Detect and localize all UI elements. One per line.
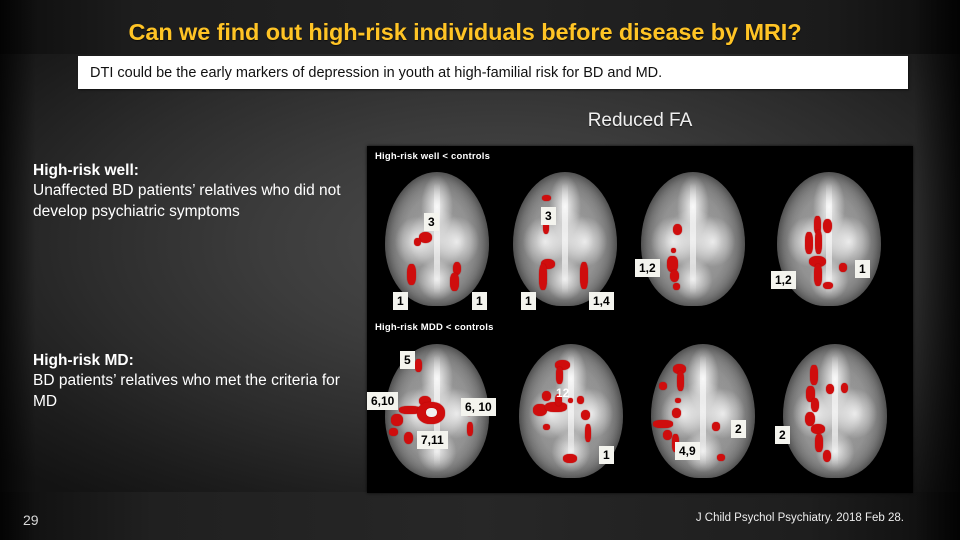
definition-heading: High-risk well: — [33, 162, 358, 180]
cluster-blob — [659, 382, 667, 390]
cluster-blob — [415, 359, 422, 372]
brain-outline-icon — [385, 172, 489, 306]
brain-slice-3: 1,2 — [629, 164, 757, 314]
citation-text: J Child Psychol Psychiatry. 2018 Feb 28. — [696, 512, 904, 524]
brain-outline-icon — [783, 344, 887, 478]
right-vignette — [914, 0, 960, 540]
cluster-blob — [663, 430, 672, 440]
figure-row-high-risk-well: 3 1 1 3 1 1,4 — [367, 164, 913, 314]
brain-outline-icon — [651, 344, 755, 478]
definition-high-risk-md: High-risk MD: BD patients’ relatives who… — [33, 352, 358, 412]
brain-outline-icon — [641, 172, 745, 306]
cluster-tag: 2 — [731, 420, 746, 438]
cluster-blob — [407, 264, 416, 285]
cluster-tag: 1,2 — [635, 259, 660, 277]
cluster-blob — [811, 398, 819, 412]
cluster-blob — [389, 428, 398, 436]
brain-slice-8: 2 — [771, 336, 899, 486]
cluster-blob — [673, 224, 682, 235]
brain-slice-5: 5 6,10 6, 10 7,11 — [373, 336, 501, 486]
cluster-blob — [814, 264, 822, 286]
cluster-blob — [717, 454, 725, 461]
cluster-blob — [543, 424, 550, 430]
cluster-tag: 1 — [393, 292, 408, 310]
cluster-blob — [580, 262, 588, 289]
cluster-blob — [670, 270, 679, 282]
cluster-tag: 1 — [521, 292, 536, 310]
cluster-blob — [542, 195, 551, 201]
cluster-blob — [673, 283, 680, 290]
brain-slice-4: 1,2 1 — [765, 164, 893, 314]
brain-outline-icon — [513, 172, 617, 306]
cluster-blob — [450, 273, 459, 291]
cluster-blob — [811, 424, 825, 434]
slide-canvas: Can we find out high-risk individuals be… — [0, 0, 960, 540]
cluster-blob — [563, 454, 577, 463]
cluster-blob-core — [426, 408, 437, 417]
cluster-tag: 5 — [400, 351, 415, 369]
brain-slice-7: 2 4,9 — [639, 336, 767, 486]
cluster-blob — [556, 367, 563, 384]
left-vignette — [0, 0, 36, 540]
definition-heading: High-risk MD: — [33, 352, 358, 370]
cluster-blob — [404, 432, 413, 444]
cluster-tag: 2 — [775, 426, 790, 444]
cluster-tag: 1 — [855, 260, 870, 278]
cluster-blob — [577, 396, 584, 404]
figure-row-label-bottom: High-risk MDD < controls — [375, 322, 494, 333]
definition-body: Unaffected BD patients’ relatives who di… — [33, 181, 358, 222]
cluster-blob — [815, 434, 823, 452]
figure-row-high-risk-mdd: 5 6,10 6, 10 7,11 12 1 — [367, 336, 913, 486]
cluster-blob — [675, 398, 681, 403]
cluster-tag: 1,2 — [771, 271, 796, 289]
cluster-blob — [542, 391, 551, 401]
figure-panel: High-risk well < controls High-risk MDD … — [367, 146, 913, 493]
definition-high-risk-well: High-risk well: Unaffected BD patients’ … — [33, 162, 358, 222]
cluster-tag: 1 — [472, 292, 487, 310]
cluster-blob — [712, 422, 720, 431]
cluster-blob — [823, 219, 832, 233]
cluster-blob — [467, 422, 473, 436]
brain-slice-2: 3 1 1,4 — [501, 164, 629, 314]
cluster-blob — [826, 384, 834, 394]
definition-body: BD patients’ relatives who met the crite… — [33, 371, 358, 412]
cluster-tag: 12 — [552, 384, 573, 402]
cluster-tag: 4,9 — [675, 442, 700, 460]
slide-title: Can we find out high-risk individuals be… — [0, 19, 930, 46]
cluster-tag: 6, 10 — [461, 398, 496, 416]
cluster-blob — [839, 263, 847, 272]
brain-slice-6: 12 1 — [507, 336, 635, 486]
page-number: 29 — [23, 512, 39, 528]
cluster-blob — [539, 264, 547, 290]
cluster-blob — [671, 248, 676, 253]
cluster-blob — [810, 365, 818, 385]
cluster-blob — [677, 371, 684, 391]
cluster-blob — [805, 232, 813, 254]
cluster-blob — [581, 410, 590, 420]
cluster-tag: 3 — [424, 213, 439, 231]
cluster-blob — [653, 420, 673, 428]
cluster-blob — [672, 408, 681, 418]
cluster-tag: 1 — [599, 446, 614, 464]
cluster-blob — [823, 450, 831, 462]
cluster-tag: 6,10 — [367, 392, 398, 410]
cluster-blob — [585, 424, 591, 442]
cluster-tag: 3 — [541, 207, 556, 225]
cluster-blob — [815, 230, 822, 254]
callout-text: DTI could be the early markers of depres… — [90, 65, 662, 81]
callout-box: DTI could be the early markers of depres… — [78, 56, 908, 89]
cluster-tag: 1,4 — [589, 292, 614, 310]
cluster-blob — [391, 414, 403, 426]
brain-slice-1: 3 1 1 — [373, 164, 501, 314]
figure-row-label-top: High-risk well < controls — [375, 151, 490, 162]
section-label-reduced-fa: Reduced FA — [367, 110, 913, 132]
cluster-blob — [414, 238, 421, 246]
cluster-blob — [823, 282, 833, 289]
cluster-blob — [841, 383, 848, 393]
cluster-tag: 7,11 — [417, 431, 448, 449]
